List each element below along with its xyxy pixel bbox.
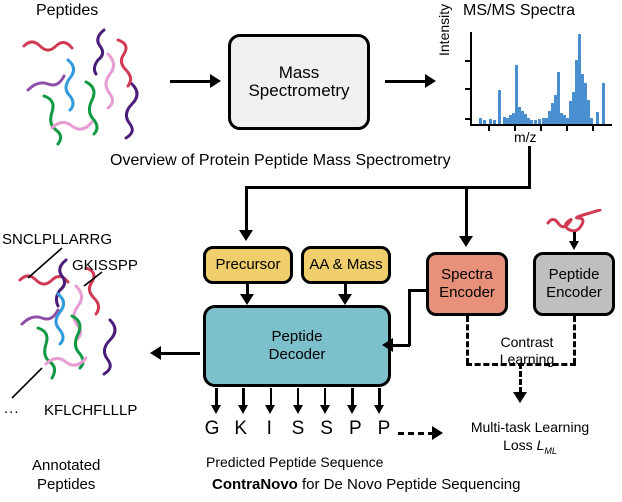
decoder-output-arrow-head	[320, 405, 330, 414]
connector-spectra-encoder-elbow-vertical	[408, 289, 411, 346]
spectrum-peak	[489, 119, 492, 124]
dashed-sequence-to-loss	[398, 432, 434, 435]
connector-spectra-encoder-elbow-top	[408, 289, 428, 292]
decoder-output-arrow-line	[242, 388, 245, 406]
dashed-peptide-encoder-down	[573, 316, 576, 364]
arrow-decoder-to-annotated-line	[160, 352, 200, 355]
precursor-label: Precursor	[215, 256, 280, 274]
spectra-encoder-label-line1: Spectra	[441, 266, 493, 283]
decoder-output-arrow-head	[293, 405, 303, 414]
contrast-learning-line2: Learning	[500, 351, 555, 367]
spectrum-peak	[483, 120, 486, 124]
bottom-caption-bold: ContraNovo	[212, 476, 298, 493]
spectra-encoder-box[interactable]: Spectra Encoder	[426, 252, 508, 316]
msms-spectra-title: MS/MS Spectra	[463, 2, 575, 20]
peptide-decoder-box[interactable]: Peptide Decoder	[203, 305, 391, 387]
decoder-output-arrow-head	[374, 405, 384, 414]
connector-bus-horizontal	[245, 186, 531, 189]
connector-bus-to-spectra-encoder	[465, 186, 468, 236]
peptide-encoder-box[interactable]: Peptide Encoder	[533, 252, 615, 316]
peptide-decoder-label-line2: Decoder	[269, 346, 326, 363]
spectrum-peak	[596, 112, 599, 124]
annotated-peptides-caption: Annotated Peptides	[32, 456, 100, 494]
arrow-to-precursor-head	[239, 230, 253, 241]
spectrum-peak	[534, 120, 537, 124]
predicted-sequence-letter: K	[232, 418, 250, 440]
peptides-title: Peptides	[36, 2, 98, 20]
decoder-output-arrow-line	[215, 388, 218, 406]
predicted-sequence-letter: I	[260, 418, 278, 440]
contrast-learning-label: Contrast Learning	[489, 334, 565, 368]
spectrum-x-tick	[488, 126, 490, 131]
arrow-peptides-to-massspec-head	[210, 74, 221, 88]
spectrum-x-tick	[514, 126, 516, 131]
predicted-sequence-letter: G	[203, 418, 221, 440]
bottom-caption-rest: for De Novo Peptide Sequencing	[298, 476, 521, 493]
annotated-caption-line1: Annotated	[32, 457, 100, 474]
spectrum-peak	[530, 120, 533, 124]
peptide-encoder-label-line1: Peptide	[549, 266, 600, 283]
spectrum-plot-area	[472, 32, 610, 124]
spectrum-peak	[498, 90, 501, 124]
arrow-squiggle-to-peptide-encoder-head	[569, 241, 579, 250]
predicted-sequence-letters: GKISSPP	[203, 418, 393, 440]
decoder-output-arrow-line	[270, 388, 273, 406]
arrow-aamass-to-decoder-head	[338, 294, 352, 305]
predicted-sequence-letter: S	[318, 418, 336, 440]
arrow-contrast-to-loss-head	[513, 392, 527, 403]
arrow-peptides-to-massspec-line	[170, 80, 212, 83]
predicted-sequence-letter: P	[346, 418, 364, 440]
contrast-learning-line1: Contrast	[501, 334, 554, 350]
arrow-to-spectra-encoder-head	[459, 236, 473, 247]
decoder-output-arrow-line	[378, 388, 381, 406]
spectrum-peak	[538, 119, 541, 124]
msms-spectrum-chart: Intensity m/z	[452, 30, 612, 145]
annotated-sequence-2: GKISSPP	[72, 257, 138, 274]
spectra-encoder-label-line2: Encoder	[439, 284, 495, 301]
connector-spectra-encoder-to-decoder	[392, 344, 410, 347]
spectrum-peak	[590, 118, 593, 124]
spectrum-y-tick	[465, 60, 471, 62]
decoder-output-arrow-head	[347, 405, 357, 414]
connector-bus-to-precursor	[245, 186, 248, 230]
predicted-sequence-caption: Predicted Peptide Sequence	[206, 454, 383, 470]
arrow-massspec-to-spectrum-line	[385, 80, 427, 83]
annotated-sequence-ellipsis: ...	[4, 400, 20, 417]
annotated-sequence-3: KFLCHFLLLP	[44, 402, 137, 419]
spectrum-x-tick	[540, 126, 542, 131]
spectrum-x-axis-label: m/z	[514, 129, 537, 145]
annotated-sequence-1: SNCLPLLARRG	[2, 231, 112, 248]
dashed-spectra-encoder-down	[466, 316, 469, 364]
multitask-loss-subscript: ML	[544, 446, 557, 456]
aa-mass-box[interactable]: AA & Mass	[301, 246, 391, 284]
precursor-box[interactable]: Precursor	[203, 246, 293, 284]
spectrum-peak	[602, 83, 605, 124]
peptide-encoder-label-line2: Encoder	[546, 284, 602, 301]
spectrum-x-tick	[566, 126, 568, 131]
mass-spectrometry-label-line1: Mass	[279, 63, 320, 82]
spectrum-y-axis-label: Intensity	[436, 4, 452, 56]
mass-spectrometry-label-line2: Spectrometry	[248, 81, 349, 100]
overview-caption: Overview of Protein Peptide Mass Spectro…	[110, 152, 451, 170]
multitask-loss-line1: Multi-task Learning	[471, 419, 589, 435]
arrow-massspec-to-spectrum-head	[425, 74, 436, 88]
peptide-decoder-label-line1: Peptide	[272, 328, 323, 345]
spectrum-peak	[493, 120, 496, 124]
spectrum-y-tick	[465, 118, 471, 120]
decoder-output-arrow-line	[351, 388, 354, 406]
multitask-loss-label: Multi-task Learning Loss LML	[455, 418, 605, 460]
connector-spectrum-down	[528, 146, 531, 188]
predicted-sequence-letter: P	[375, 418, 393, 440]
multitask-loss-prefix: Loss	[503, 437, 536, 453]
aa-mass-label: AA & Mass	[309, 256, 382, 274]
bottom-caption: ContraNovo for De Novo Peptide Sequencin…	[212, 476, 521, 493]
spectrum-peak	[479, 118, 482, 124]
predicted-sequence-letter: S	[289, 418, 307, 440]
annotated-caption-line2: Peptides	[37, 476, 95, 493]
arrow-precursor-to-decoder-head	[240, 294, 254, 305]
arrow-sequence-to-loss-head	[432, 426, 443, 440]
decoder-output-arrow-head	[211, 405, 221, 414]
decoder-output-arrow-line	[324, 388, 327, 406]
decoder-output-arrow-line	[297, 388, 300, 406]
spectrum-x-tick	[592, 126, 594, 131]
spectrum-y-tick	[465, 88, 471, 90]
peptide-cluster-input	[14, 28, 154, 146]
arrow-spectra-encoder-to-decoder-head	[382, 338, 393, 352]
decoder-output-arrows	[203, 388, 393, 416]
decoder-output-arrow-head	[265, 405, 275, 414]
decoder-output-arrow-head	[238, 405, 248, 414]
mass-spectrometry-box[interactable]: Mass Spectrometry	[228, 34, 370, 130]
